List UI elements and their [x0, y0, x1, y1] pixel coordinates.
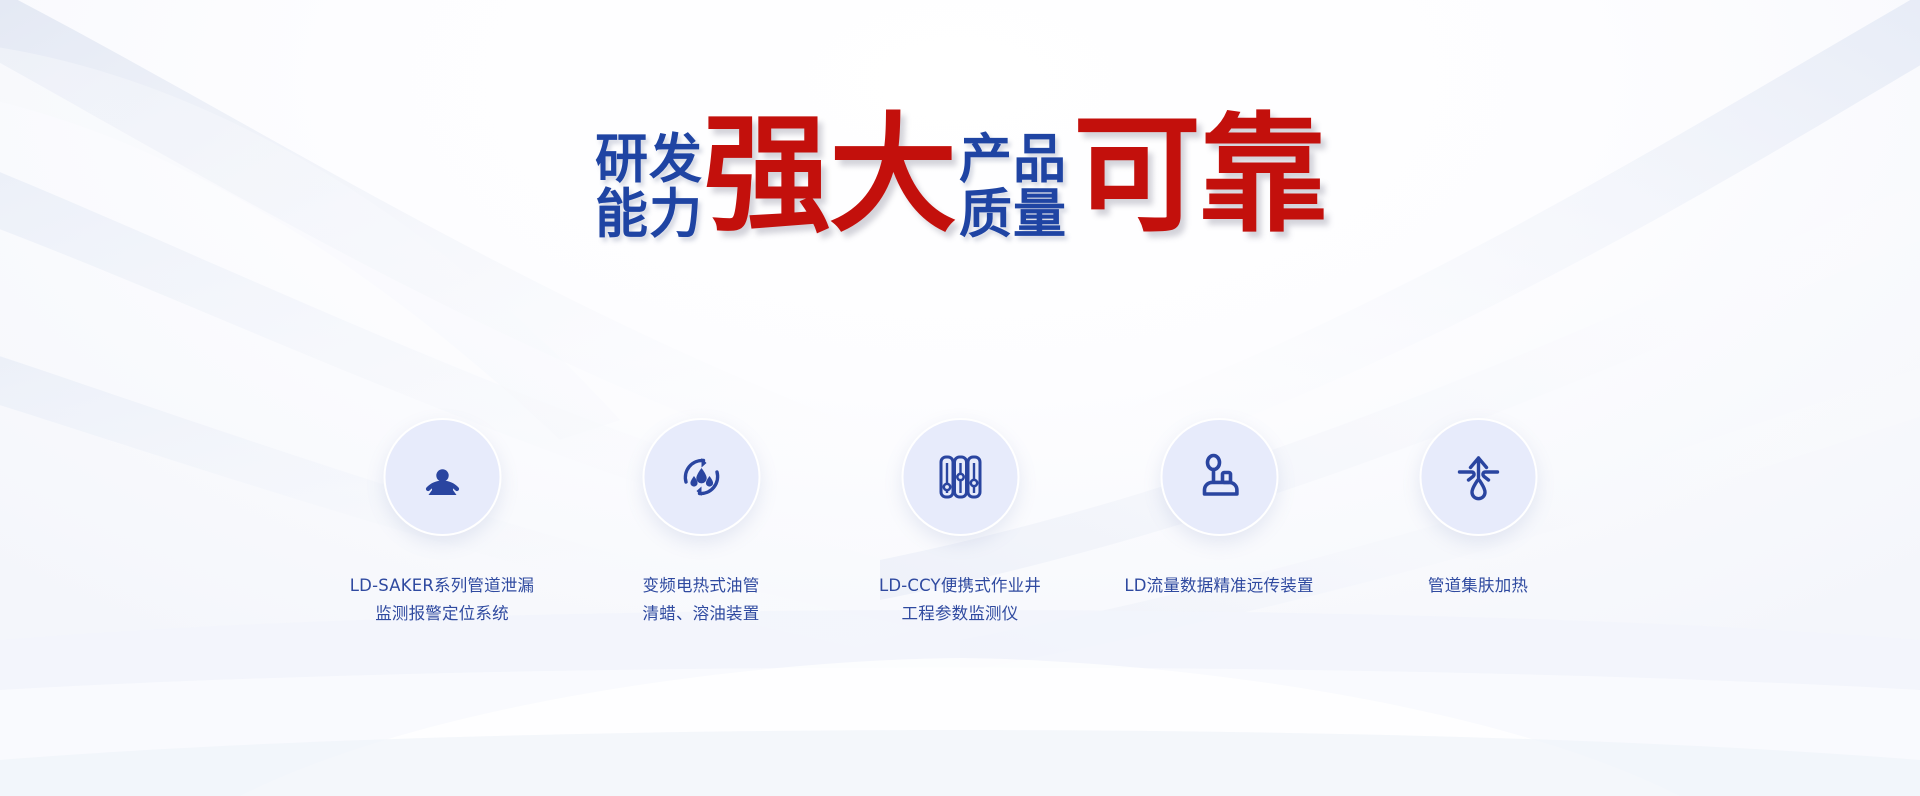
headline: 研发 能力 强大 产品 质量 可靠	[0, 118, 1920, 246]
promo-banner: 研发 能力 强大 产品 质量 可靠	[0, 0, 1920, 796]
antenna-transmitter-icon	[1191, 449, 1247, 505]
feature-label: LD-CCY便携式作业井 工程参数监测仪	[879, 572, 1041, 629]
feature-item-well-monitor[interactable]: LD-CCY便携式作业井 工程参数监测仪	[854, 418, 1067, 629]
feature-item-leak-detection[interactable]: LD-SAKER系列管道泄漏 监测报警定位系统	[336, 418, 549, 629]
headline-emphasis-reliable: 可靠	[1073, 112, 1325, 240]
headline-rd-line1: 研发	[595, 132, 703, 187]
headline-quality-line2: 质量	[959, 187, 1067, 242]
feature-icon-circle	[383, 418, 501, 536]
headline-group-quality: 产品 质量	[959, 118, 1067, 242]
headline-group-rd: 研发 能力	[595, 118, 703, 242]
feature-icon-circle	[1160, 418, 1278, 536]
feature-icon-circle	[642, 418, 760, 536]
feature-label: 管道集肤加热	[1428, 572, 1528, 600]
feature-label: 变频电热式油管 清蜡、溶油装置	[643, 572, 760, 629]
feature-label: LD-SAKER系列管道泄漏 监测报警定位系统	[350, 572, 534, 629]
feature-item-skin-effect-heating[interactable]: 管道集肤加热	[1372, 418, 1585, 600]
headline-quality-line1: 产品	[959, 132, 1067, 187]
heat-arrow-drop-icon	[1450, 449, 1506, 505]
feature-icon-circle	[901, 418, 1019, 536]
feature-icon-circle	[1419, 418, 1537, 536]
three-gauge-tubes-icon	[932, 449, 988, 505]
headline-emphasis-strong: 强大	[703, 112, 955, 240]
water-drop-cycle-icon	[673, 449, 729, 505]
signal-broadcast-icon	[414, 449, 470, 505]
headline-rd-line2: 能力	[595, 187, 703, 242]
feature-label: LD流量数据精准远传装置	[1124, 572, 1313, 600]
feature-item-flow-telemetry[interactable]: LD流量数据精准远传装置	[1113, 418, 1326, 600]
feature-list: LD-SAKER系列管道泄漏 监测报警定位系统	[336, 418, 1585, 629]
feature-item-oil-pipe-heating[interactable]: 变频电热式油管 清蜡、溶油装置	[595, 418, 808, 629]
